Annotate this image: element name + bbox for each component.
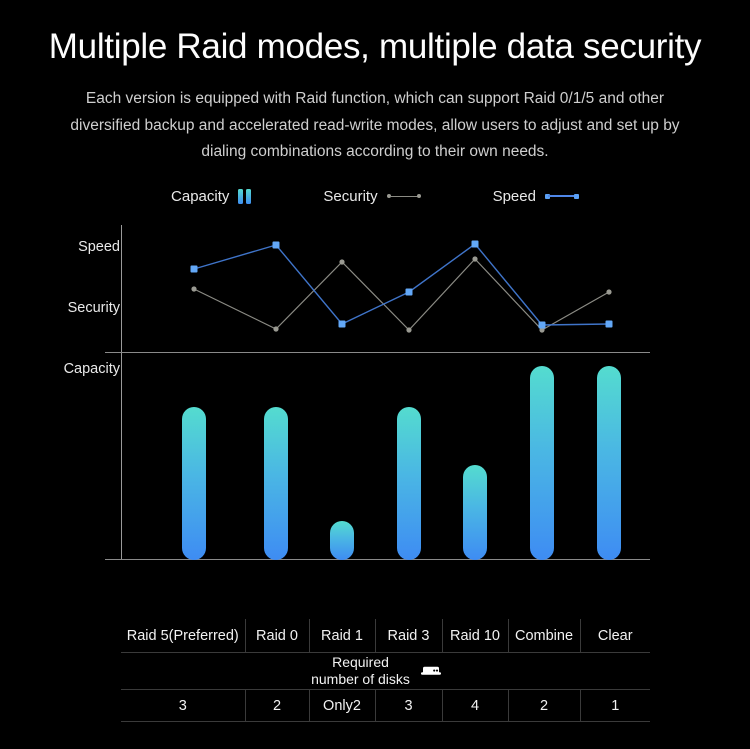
table-header-row: Raid 5(Preferred) Raid 0 Raid 1 Raid 3 R… [121,619,650,653]
table-header-raid0: Raid 0 [245,619,309,653]
table-value-raid3: 3 [375,690,442,722]
table-header-raid3: Raid 3 [375,619,442,653]
bar-clear [597,366,621,560]
table-value-combine: 2 [508,690,580,722]
security-line-swatch-icon [387,192,421,201]
bar-raid1 [330,521,354,560]
speed-data-points [191,240,613,328]
table-header-raid1: Raid 1 [309,619,375,653]
bar-raid0 [264,407,288,560]
security-line-series [194,259,609,330]
table-header-raid5: Raid 5(Preferred) [121,619,245,653]
capacity-bars [182,366,621,560]
raid-chart: Speed Security Capacity [0,217,750,617]
table-header-raid10: Raid 10 [442,619,508,653]
disk-row-spacer-6 [508,653,580,690]
disk-row-spacer-2 [245,653,309,690]
speed-line-swatch-icon [545,192,579,201]
legend-label-speed: Speed [493,188,536,205]
disk-enclosure-icon [420,662,442,680]
chart-legend: Capacity Security Speed [0,188,750,205]
security-data-points [191,256,611,332]
table-disk-label-row: Required number of disks [121,653,650,690]
legend-item-security[interactable]: Security [323,188,420,205]
table-value-raid0: 2 [245,690,309,722]
raid-modes-page: Multiple Raid modes, multiple data secur… [0,0,750,749]
speed-line-series [194,244,609,325]
bar-raid10 [463,465,487,560]
table-value-clear: 1 [580,690,650,722]
hero-section: Multiple Raid modes, multiple data secur… [0,0,750,166]
page-subtitle: Each version is equipped with Raid funct… [50,86,700,166]
raid-spec-table: Raid 5(Preferred) Raid 0 Raid 1 Raid 3 R… [121,619,650,722]
table-header-clear: Clear [580,619,650,653]
required-disks-label: Required number of disks [309,654,412,687]
table-header-combine: Combine [508,619,580,653]
table-value-raid5: 3 [121,690,245,722]
disk-row-spacer-7 [580,653,650,690]
capacity-bars-swatch-icon [238,189,251,204]
chart-canvas [0,217,750,617]
bar-combine [530,366,554,560]
bar-raid3 [397,407,421,560]
table-values-row: 3 2 Only2 3 4 2 1 [121,690,650,722]
page-title: Multiple Raid modes, multiple data secur… [0,26,750,68]
required-disks-cell: Required number of disks [309,653,442,690]
disk-row-spacer-5 [442,653,508,690]
legend-label-capacity: Capacity [171,188,229,205]
legend-item-speed[interactable]: Speed [493,188,579,205]
legend-label-security: Security [323,188,377,205]
legend-item-capacity[interactable]: Capacity [171,188,251,205]
disk-row-spacer-left [121,653,245,690]
table-value-raid1: Only2 [309,690,375,722]
bar-raid5 [182,407,206,560]
table-value-raid10: 4 [442,690,508,722]
